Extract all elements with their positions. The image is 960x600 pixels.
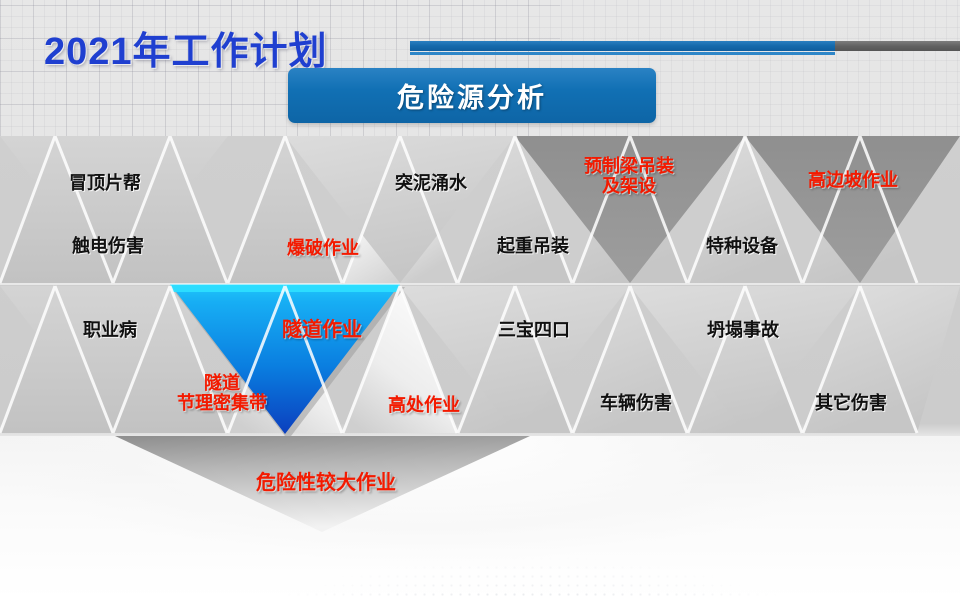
section-banner-label: 危险源分析	[397, 76, 547, 115]
header-rule-thin	[410, 52, 835, 55]
cell-shape-c17	[115, 436, 530, 532]
section-banner: 危险源分析	[288, 68, 656, 123]
slide: 2021年工作计划 危险源分析	[0, 0, 960, 600]
header-rule-blue	[410, 41, 835, 51]
triangle-grid-svg	[0, 136, 960, 600]
page-title: 2021年工作计划	[44, 20, 328, 75]
hazard-triangle-diagram: 冒顶片帮 触电伤害 爆破作业 突泥涌水 预制梁吊装及架设 起重吊装 特种设备 高…	[0, 136, 960, 600]
header-rule-gray	[835, 41, 960, 51]
